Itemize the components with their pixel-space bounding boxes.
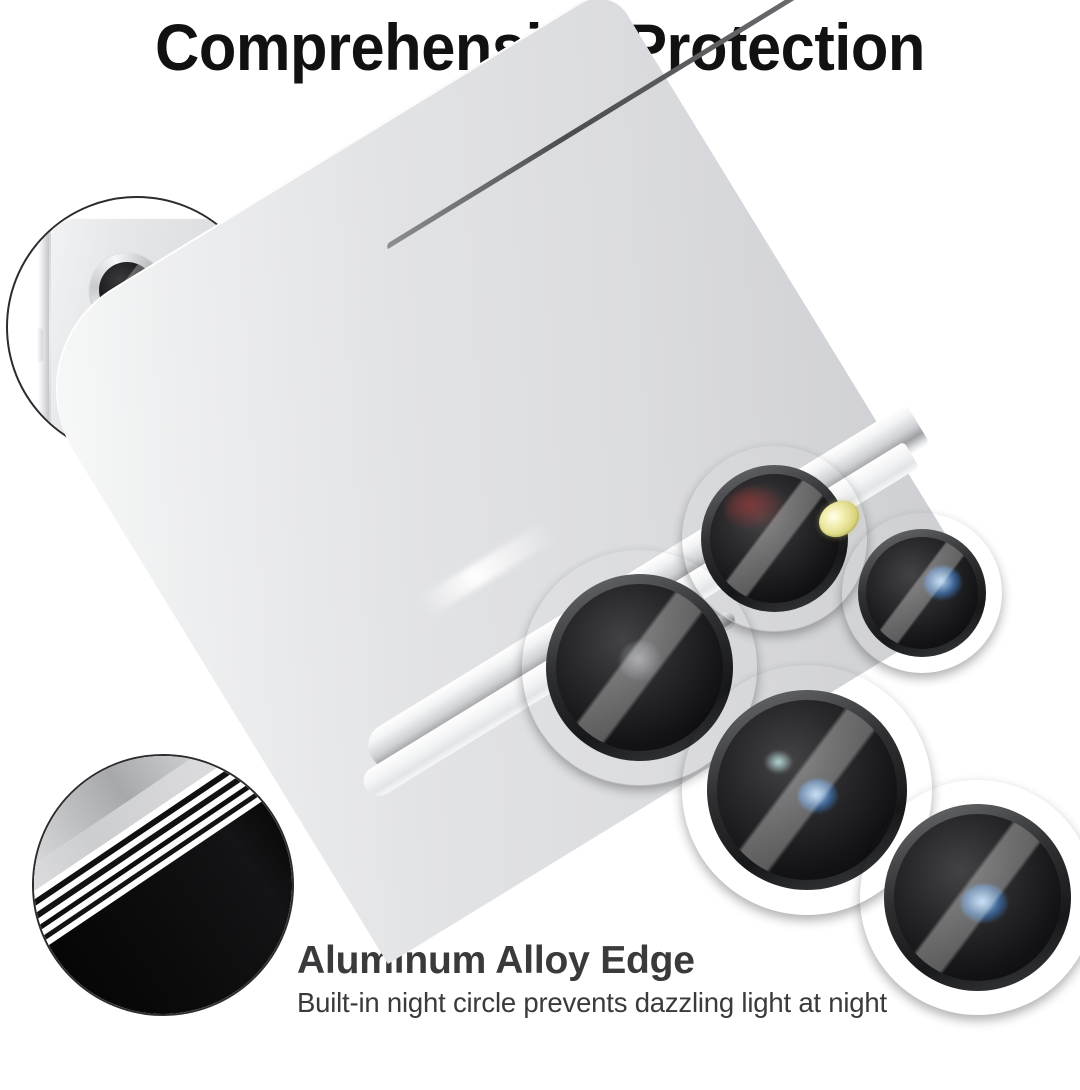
- small-right-camera-lens: [842, 513, 1002, 673]
- aluminum-edge-illustration: [34, 756, 292, 1014]
- product-marketing-image: Comprehensive Protection: [0, 0, 1080, 1080]
- lens-glass: [866, 537, 978, 649]
- lens-glass: [556, 584, 723, 751]
- lens-glare: [866, 537, 978, 649]
- lens-glass: [894, 814, 1061, 981]
- bottom-right-camera-lens: [860, 780, 1080, 1015]
- lens-glare: [556, 584, 723, 751]
- aluminum-edge-callout: [32, 754, 294, 1016]
- lens-glass: [710, 474, 839, 603]
- aluminum-edge-band: [32, 754, 294, 1016]
- lens-glare: [894, 814, 1061, 981]
- mini-phone-side-button: [37, 328, 43, 362]
- lens-glare: [710, 474, 839, 603]
- phone-product-photo: [330, 210, 1080, 1090]
